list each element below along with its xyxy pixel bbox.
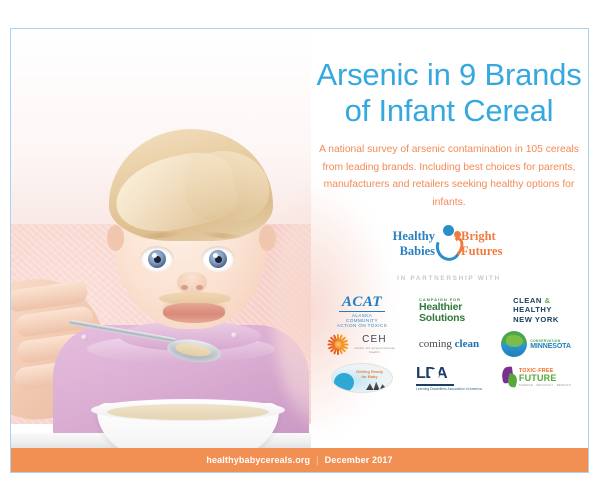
page-title: Arsenic in 9 Brands of Infant Cereal (303, 57, 589, 130)
partner-row: CEH center for environmental health comi… (323, 327, 575, 361)
page-title-line-2: of Infant Cereal (303, 93, 589, 129)
page-subtitle: A national survey of arsenic contaminati… (315, 141, 583, 212)
baby-ear-left (107, 225, 124, 251)
ceh-text: CEH center for environmental health (352, 335, 397, 354)
chny-word-clean: CLEAN (513, 296, 542, 305)
partner-logos: ACAT ALASKA COMMUNITY ACTION ON TOXICS C… (323, 293, 575, 395)
grb-silhouette-icon (366, 378, 388, 390)
baby-mouth (163, 303, 225, 323)
tff-line-3: SCIENCE · ADVOCACY · RESULTS (519, 384, 571, 387)
conservation-minnesota-logo: CONSERVATION MINNESOTA (501, 331, 571, 357)
ceh-logo: CEH center for environmental health (327, 330, 397, 358)
partner-row: Getting Ready for Baby LDA Learning Disa… (323, 361, 575, 395)
starburst-icon (327, 333, 349, 355)
ceh-subtitle: center for environmental health (352, 346, 397, 354)
iris (209, 250, 227, 268)
logo-left-words: Healthy Babies (383, 229, 435, 259)
partner-cell: LDA Learning Disabilities Association of… (410, 361, 488, 395)
baby-ear-right (259, 225, 276, 251)
partner-cell: Getting Ready for Baby (323, 361, 401, 395)
healthier-solutions-logo: CAMPAIGN FOR Healthier Solutions (419, 297, 479, 323)
coming-clean-logo: coming clean (419, 338, 479, 350)
partner-cell: CEH center for environmental health (323, 327, 401, 361)
footer-date: December 2017 (325, 455, 393, 465)
acat-rule (339, 311, 385, 312)
footer-website[interactable]: healthybabycereals.org (206, 455, 310, 465)
partner-cell: CONSERVATION MINNESOTA (497, 327, 575, 361)
partner-cell: TOXIC-FREE FUTURE SCIENCE · ADVOCACY · R… (497, 361, 575, 395)
tff-text: TOXIC-FREE FUTURE SCIENCE · ADVOCACY · R… (519, 369, 571, 387)
tff-line-2: FUTURE (519, 374, 571, 383)
baby-eye-left (140, 246, 174, 272)
cover-content: Arsenic in 9 Brands of Infant Cereal A n… (311, 29, 587, 450)
chs-line-2: Solutions (419, 313, 479, 324)
report-cover: Arsenic in 9 Brands of Infant Cereal A n… (10, 28, 589, 473)
getting-ready-for-baby-logo: Getting Ready for Baby (331, 363, 393, 393)
partners-heading: IN PARTNERSHIP WITH (311, 275, 587, 282)
page-title-line-1: Arsenic in 9 Brands (303, 57, 589, 93)
chny-ampersand: & (544, 296, 550, 305)
logo-word-healthy: Healthy (383, 229, 435, 244)
chny-line-3: NEW YORK (513, 315, 559, 324)
logo-word-babies: Babies (383, 244, 435, 259)
leaf-icon (501, 367, 517, 389)
acat-title: ACAT (336, 295, 388, 310)
lda-subtitle: Learning Disabilities Association of Ame… (416, 387, 482, 391)
cereal-on-spoon (174, 341, 211, 358)
lda-rule (416, 384, 454, 385)
coming-clean-word-1: coming (419, 338, 455, 350)
ceh-title: CEH (352, 335, 397, 345)
chs-line-1: Healthier (419, 302, 479, 313)
eye-glint (213, 253, 218, 258)
nostril (181, 285, 188, 290)
cereal-in-bowl (107, 404, 269, 420)
baby-nose (177, 272, 207, 294)
globe-icon (501, 331, 527, 357)
logo-right-words: Bright Futures (461, 229, 513, 259)
starburst-core (334, 340, 343, 349)
lda-title: LDA (416, 366, 447, 382)
logo-word-bright: Bright (461, 229, 513, 244)
chny-line-1: CLEAN & (513, 296, 559, 305)
onesie-snap (81, 334, 88, 341)
footer-bar: healthybabycereals.org | December 2017 (11, 448, 588, 472)
partner-row: ACAT ALASKA COMMUNITY ACTION ON TOXICS C… (323, 293, 575, 327)
chny-line-2: HEALTHY (513, 305, 559, 314)
cmn-line-2: MINNESOTA (530, 343, 571, 350)
logo-word-futures: Futures (461, 244, 513, 259)
acat-subtitle: ALASKA COMMUNITY ACTION ON TOXICS (336, 313, 388, 328)
partner-cell: ACAT ALASKA COMMUNITY ACTION ON TOXICS (323, 293, 401, 327)
nostril (196, 285, 203, 290)
leaf-green (507, 373, 519, 388)
grb-text: Getting Ready for Baby (350, 369, 389, 379)
lda-logo: LDA Learning Disabilities Association of… (416, 365, 482, 392)
grb-line-2: for Baby (361, 374, 377, 379)
acat-logo: ACAT ALASKA COMMUNITY ACTION ON TOXICS (336, 295, 388, 325)
coming-clean-word-2: clean (455, 338, 479, 350)
partner-cell: CAMPAIGN FOR Healthier Solutions (410, 293, 488, 327)
partner-cell: CLEAN & HEALTHY NEW YORK (497, 293, 575, 327)
iris (148, 250, 166, 268)
onesie-snap (231, 332, 238, 339)
healthy-babies-bright-futures-logo: Healthy Babies Bright Futures (383, 225, 513, 267)
cover-photo (11, 29, 311, 450)
clean-healthy-ny-logo: CLEAN & HEALTHY NEW YORK (513, 296, 559, 324)
eye-glint (152, 253, 157, 258)
toxic-free-future-logo: TOXIC-FREE FUTURE SCIENCE · ADVOCACY · R… (501, 367, 571, 389)
footer-separator: | (316, 455, 319, 465)
baby-eye-right (201, 246, 235, 272)
partner-cell: coming clean (410, 327, 488, 361)
cmn-text: CONSERVATION MINNESOTA (530, 339, 571, 350)
